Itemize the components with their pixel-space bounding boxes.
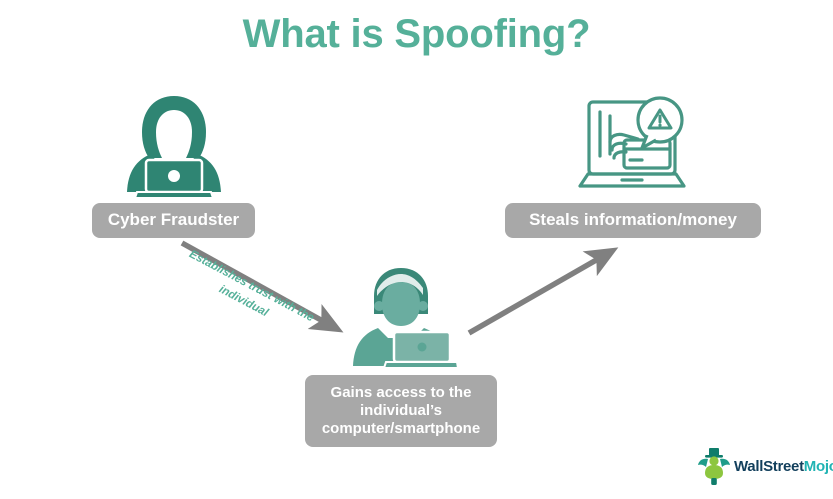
label-gains-access-line-1: Gains access to the: [322, 384, 480, 402]
label-gains-access-line-3: computer/smartphone: [322, 420, 480, 438]
person-with-laptop-icon: [344, 262, 458, 374]
logo-text-accent: Mojo: [804, 458, 833, 475]
arrow-fraudster-to-victim: [170, 232, 360, 347]
label-steals-information-money-text: Steals information/money: [529, 210, 737, 231]
hooded-hacker-laptop-icon: [118, 92, 230, 202]
logo-text-primary: WallStreet: [734, 458, 804, 475]
label-steals-information-money: Steals information/money: [505, 203, 761, 238]
page-title: What is Spoofing?: [0, 12, 833, 57]
infographic-canvas: What is Spoofing? Cyber Fraudster: [0, 0, 833, 499]
label-gains-access: Gains access to the individual’s compute…: [305, 375, 497, 447]
wallstreetmojo-bull-icon: [697, 446, 731, 486]
wallstreetmojo-wordmark: WallStreetMojo: [734, 458, 833, 475]
laptop-hand-credit-card-warning-icon: [572, 94, 692, 204]
label-gains-access-line-2: individual’s: [322, 402, 480, 420]
label-cyber-fraudster-text: Cyber Fraudster: [108, 210, 239, 231]
wallstreetmojo-logo: WallStreetMojo: [697, 445, 822, 487]
arrow-victim-to-outcome: [455, 238, 625, 348]
